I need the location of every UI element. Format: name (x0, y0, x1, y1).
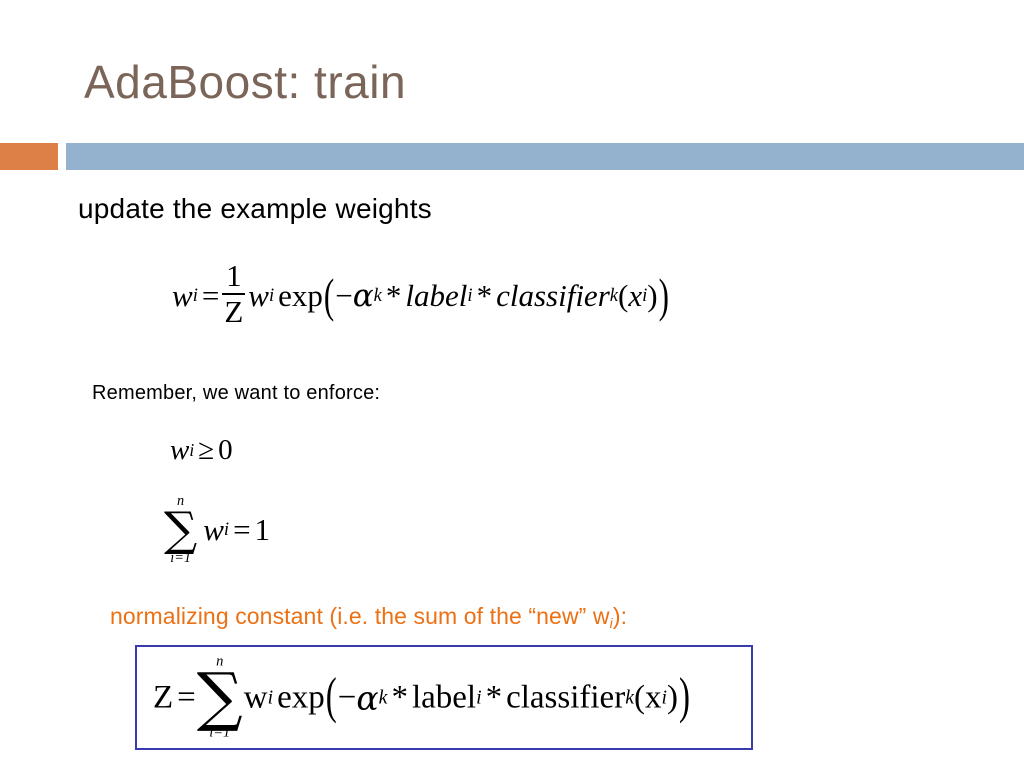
eq-z-minus: − (338, 679, 357, 716)
eq-sumone-equals: = (233, 512, 250, 548)
eq-update-label: label (405, 278, 467, 314)
equation-normalizer: Z = n ∑ i=1 wi exp ( − αk * labeli * cla… (153, 654, 691, 741)
normalizing-constant-caption: normalizing constant (i.e. the sum of th… (110, 601, 627, 639)
eq-update-exp: exp (278, 278, 323, 314)
accent-bar-orange (0, 143, 58, 170)
eq-z-star-2: * (486, 679, 503, 716)
equation-sum-to-one: n ∑ i=1 wi = 1 (162, 494, 270, 565)
normalizing-suffix: ): (613, 603, 627, 629)
eq-z-lhs: Z (153, 679, 173, 716)
eq-z-lower-limit: i=1 (209, 725, 230, 741)
eq-z-arg-close: ) (667, 679, 678, 716)
eq-update-arg-open: ( (618, 278, 628, 314)
eq-update-lhs-var: w (172, 278, 193, 314)
eq-update-frac-numerator: 1 (224, 260, 244, 292)
eq-sumone-sub: i (224, 519, 229, 541)
summation-symbol-normalizer: n ∑ i=1 (197, 654, 243, 741)
equation-nonnegativity: wi ≥ 0 (170, 434, 233, 467)
heading-update-weights: update the example weights (78, 192, 432, 226)
eq-z-label-sub: i (476, 686, 482, 709)
eq-z-arg-var: x (645, 679, 662, 716)
eq-update-star-1: * (386, 278, 402, 314)
eq-nonneg-value: 0 (218, 434, 233, 467)
eq-update-weight-var: w (248, 278, 269, 314)
accent-bar-blue (66, 143, 1024, 170)
eq-update-alpha-sub: k (374, 285, 382, 307)
eq-z-classifier: classifier (506, 679, 625, 716)
eq-z-alpha-sub: k (379, 686, 388, 709)
eq-update-minus: − (335, 278, 352, 314)
eq-update-label-sub: i (467, 285, 472, 307)
eq-z-label: label (412, 679, 476, 716)
eq-update-classifier-sub: k (610, 285, 618, 307)
eq-update-open-paren: ( (324, 268, 334, 324)
eq-update-arg-var: x (628, 278, 642, 314)
eq-z-weight-sub: i (268, 686, 274, 709)
eq-update-lhs-sub: i (193, 285, 198, 307)
eq-sumone-lower-limit: i=1 (170, 551, 191, 565)
sigma-icon: ∑ (164, 508, 197, 551)
remember-label: Remember, we want to enforce: (92, 380, 380, 406)
eq-nonneg-var: w (170, 434, 189, 467)
eq-z-close-paren: ) (679, 669, 690, 726)
eq-z-classifier-sub: k (625, 686, 634, 709)
eq-sumone-var: w (203, 512, 224, 548)
eq-nonneg-sub: i (189, 440, 194, 461)
eq-update-frac-denominator: Z (222, 296, 245, 328)
eq-z-open-paren: ( (326, 669, 337, 726)
sigma-icon: ∑ (197, 670, 243, 725)
eq-nonneg-relation: ≥ (198, 434, 214, 467)
equation-weight-update: wi = 1 Z wi exp ( − αk * labeli * classi… (172, 262, 670, 329)
eq-update-star-2: * (477, 278, 493, 314)
eq-update-classifier: classifier (496, 278, 610, 314)
eq-update-alpha: α (353, 278, 374, 314)
eq-z-alpha: α (356, 678, 378, 717)
summation-symbol: n ∑ i=1 (164, 494, 197, 565)
normalizing-prefix: normalizing constant (i.e. the sum of th… (110, 603, 610, 629)
eq-z-exp: exp (277, 679, 325, 716)
eq-update-weight-sub: i (269, 285, 274, 307)
eq-z-arg-open: ( (634, 679, 645, 716)
eq-sumone-value: 1 (255, 512, 271, 548)
eq-z-star-1: * (391, 679, 408, 716)
equation-box-normalizer: Z = n ∑ i=1 wi exp ( − αk * labeli * cla… (135, 645, 753, 750)
eq-z-equals: = (177, 679, 196, 716)
eq-update-close-paren: ) (659, 268, 669, 324)
eq-update-equals: = (202, 278, 219, 314)
eq-update-arg-close: ) (647, 278, 657, 314)
page-title: AdaBoost: train (84, 54, 406, 110)
eq-update-fraction: 1 Z (222, 260, 245, 327)
eq-z-weight-var: w (244, 679, 268, 716)
